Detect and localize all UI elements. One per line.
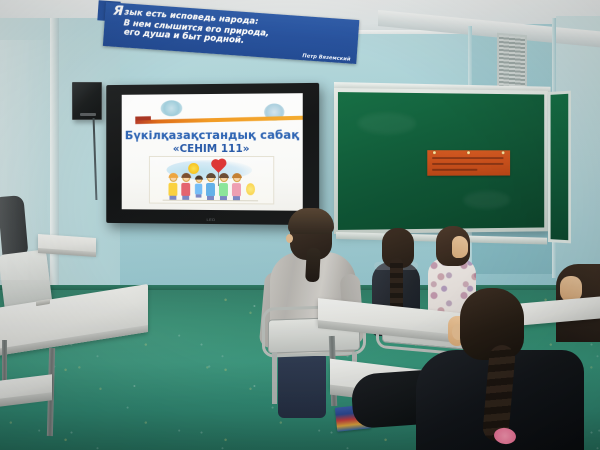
teacher-legs [278,352,326,418]
orange-poster [427,150,510,176]
slide-illustration [149,156,274,204]
ventilation-grille-icon [497,33,527,92]
display-brand-label: LED [207,217,216,222]
chalkboard-side-panel [548,91,571,244]
teacher-ear [286,234,293,243]
speaker-logo [80,113,96,116]
child-figure [195,176,202,197]
chalkboard-surface [338,92,544,230]
slide-accent-bar [135,116,302,124]
sun-icon-secondary [246,183,255,195]
green-chalkboard [334,88,548,234]
child-figure [169,174,178,200]
wall-pilaster [50,18,59,318]
slide-subtitle: «СЕНІМ 111» [122,143,303,155]
sun-icon [188,163,199,174]
classroom-photo: Язык есть исповедь народа: В нем слышитс… [0,0,600,450]
wall-speaker [72,82,102,120]
teacher-ponytail [305,248,321,283]
display-screen: Бүкілқазақстандық сабақ «СЕНІМ 111» [122,93,303,211]
child-figure [219,174,228,200]
banner-drop-cap: Я [113,6,124,18]
slide-accent-bar-red [135,116,151,120]
teacher-hair [288,208,334,234]
child-figure [232,174,241,200]
presentation-slide: Бүкілқазақстандық сабақ «СЕНІМ 111» [122,93,303,211]
child-figure [206,174,215,200]
emblem-logo-left-icon [161,100,183,116]
student-b-face [452,236,468,258]
slide-title: Бүкілқазақстандық сабақ [122,128,303,143]
child-figure [181,174,190,200]
wall-mounted-display[interactable]: Бүкілқазақстандық сабақ «СЕНІМ 111» [106,83,319,225]
chair-leg [272,352,277,404]
